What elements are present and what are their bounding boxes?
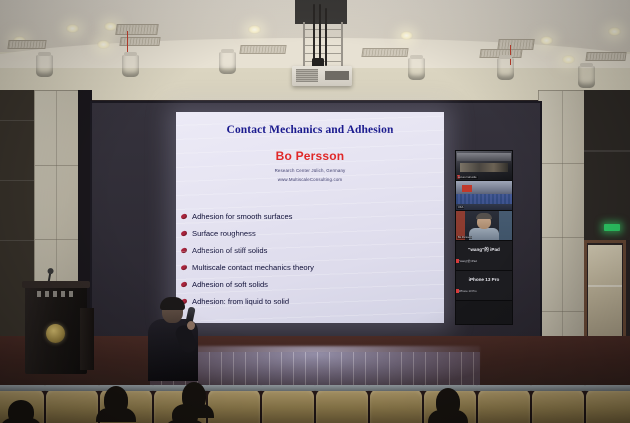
bullet-text: Adhesion of stiff solids — [192, 246, 267, 255]
audience-seat — [262, 389, 314, 423]
bullet-marker-icon — [181, 281, 188, 287]
bullet-text: Adhesion for smooth surfaces — [192, 212, 292, 221]
video-tile-name: lecture hall wide — [457, 176, 478, 179]
exit-sign-icon — [604, 224, 620, 231]
bullet-marker-icon — [181, 230, 188, 236]
wall-seam — [584, 150, 630, 152]
list-item: Adhesion of stiff solids — [181, 242, 439, 259]
projector-mount-box — [295, 0, 347, 24]
audience-head — [436, 388, 460, 416]
participant-name: iPhone 13 Pro — [456, 277, 512, 282]
podium-side-panel — [80, 308, 94, 370]
bullet-text: Adhesion: from liquid to solid — [192, 297, 289, 306]
projector-lens-housing — [325, 71, 349, 80]
audience-seat — [316, 389, 368, 423]
lecture-hall-photo: Contact Mechanics and Adhesion Bo Persso… — [0, 0, 630, 423]
participant-name: "wang"的 iPad — [456, 247, 512, 253]
person-hair — [476, 213, 492, 219]
ceiling-light — [66, 24, 79, 33]
ceiling-vent — [7, 40, 46, 49]
participant-subname: iPhone 13 Pro — [459, 289, 477, 293]
audience-seat — [478, 389, 530, 423]
wall-seam — [0, 120, 34, 121]
bullet-text: Surface roughness — [192, 229, 256, 238]
bullet-text: Adhesion of soft solids — [192, 280, 268, 289]
video-tile[interactable]: UKA — [456, 181, 512, 211]
video-tile-name: Bo Persson — [457, 236, 472, 239]
wall-recess-right — [584, 90, 630, 240]
audience-seat — [208, 389, 260, 423]
video-tile-name: UKA — [457, 206, 464, 209]
participant-row[interactable]: "wang"的 iPad "wang"的 iPad — [456, 241, 512, 271]
projector-cable — [325, 8, 327, 66]
video-conference-sidebar[interactable]: lecture hall wide UKA Bo Persson "wang"的… — [455, 150, 513, 325]
video-tile[interactable]: Bo Persson — [456, 211, 512, 241]
bullet-text: Multiscale contact mechanics theory — [192, 263, 314, 272]
ceiling-vent — [361, 48, 408, 57]
bullet-marker-icon — [181, 247, 188, 253]
list-item: Multiscale contact mechanics theory — [181, 259, 439, 276]
tile-background-right — [499, 211, 512, 240]
slide-affiliation: Research Center Jülich, Germany — [176, 168, 444, 173]
hanging-speaker — [578, 66, 595, 88]
lectern-podium — [25, 286, 87, 374]
presenter-hair — [160, 297, 185, 310]
hanging-speaker — [122, 55, 139, 77]
hanging-speaker — [408, 58, 425, 80]
wall-seam — [0, 180, 34, 181]
projector-cable — [313, 4, 315, 66]
projector-cable — [319, 4, 321, 66]
podium-emblem-icon — [46, 324, 65, 343]
wall-seam — [0, 240, 34, 241]
bullet-marker-icon — [181, 264, 188, 270]
sprinkler-rod — [127, 31, 128, 53]
participant-row[interactable]: iPhone 13 Pro iPhone 13 Pro — [456, 271, 512, 301]
podium-top — [22, 281, 90, 288]
slide-bullet-list: Adhesion for smooth surfaces Surface rou… — [181, 208, 439, 310]
list-item: Adhesion for smooth surfaces — [181, 208, 439, 225]
slide-author-name: Bo Persson — [176, 149, 444, 163]
ceiling-light — [248, 25, 261, 34]
hanging-speaker — [497, 58, 514, 80]
hanging-speaker — [36, 55, 53, 77]
bullet-marker-icon — [181, 213, 188, 219]
hanging-speaker — [219, 52, 236, 74]
ceiling-vent — [239, 45, 286, 54]
ceiling-vent — [115, 24, 159, 35]
audience-head — [172, 404, 198, 423]
ceiling-vent — [585, 52, 626, 61]
audience-head — [104, 386, 128, 414]
podium-chinese-text — [37, 291, 75, 297]
slide-title: Contact Mechanics and Adhesion — [176, 124, 444, 136]
ceiling-light — [540, 36, 553, 45]
audience-seat — [46, 389, 98, 423]
audience-seat — [370, 389, 422, 423]
audience-seat — [532, 389, 584, 423]
participant-subname: "wang"的 iPad — [459, 259, 477, 263]
video-tile[interactable]: lecture hall wide — [456, 151, 512, 181]
list-item: Adhesion: from liquid to solid — [181, 293, 439, 310]
audience-head — [8, 400, 34, 423]
ceiling-light — [400, 31, 413, 40]
audience-seat — [586, 389, 630, 423]
projector-vent-grille — [296, 69, 318, 82]
presentation-slide: Contact Mechanics and Adhesion Bo Persso… — [176, 112, 444, 323]
ceiling-light — [608, 27, 621, 36]
ceiling-vent — [119, 37, 160, 46]
presenter — [146, 299, 200, 379]
list-item: Surface roughness — [181, 225, 439, 242]
list-item: Adhesion of soft solids — [181, 276, 439, 293]
presenter-hand — [187, 321, 195, 330]
slide-website-url: www.MultiscaleConsulting.com — [176, 177, 444, 182]
ceiling-light — [97, 40, 110, 49]
ceiling-light — [562, 55, 575, 64]
person-body — [469, 228, 499, 241]
